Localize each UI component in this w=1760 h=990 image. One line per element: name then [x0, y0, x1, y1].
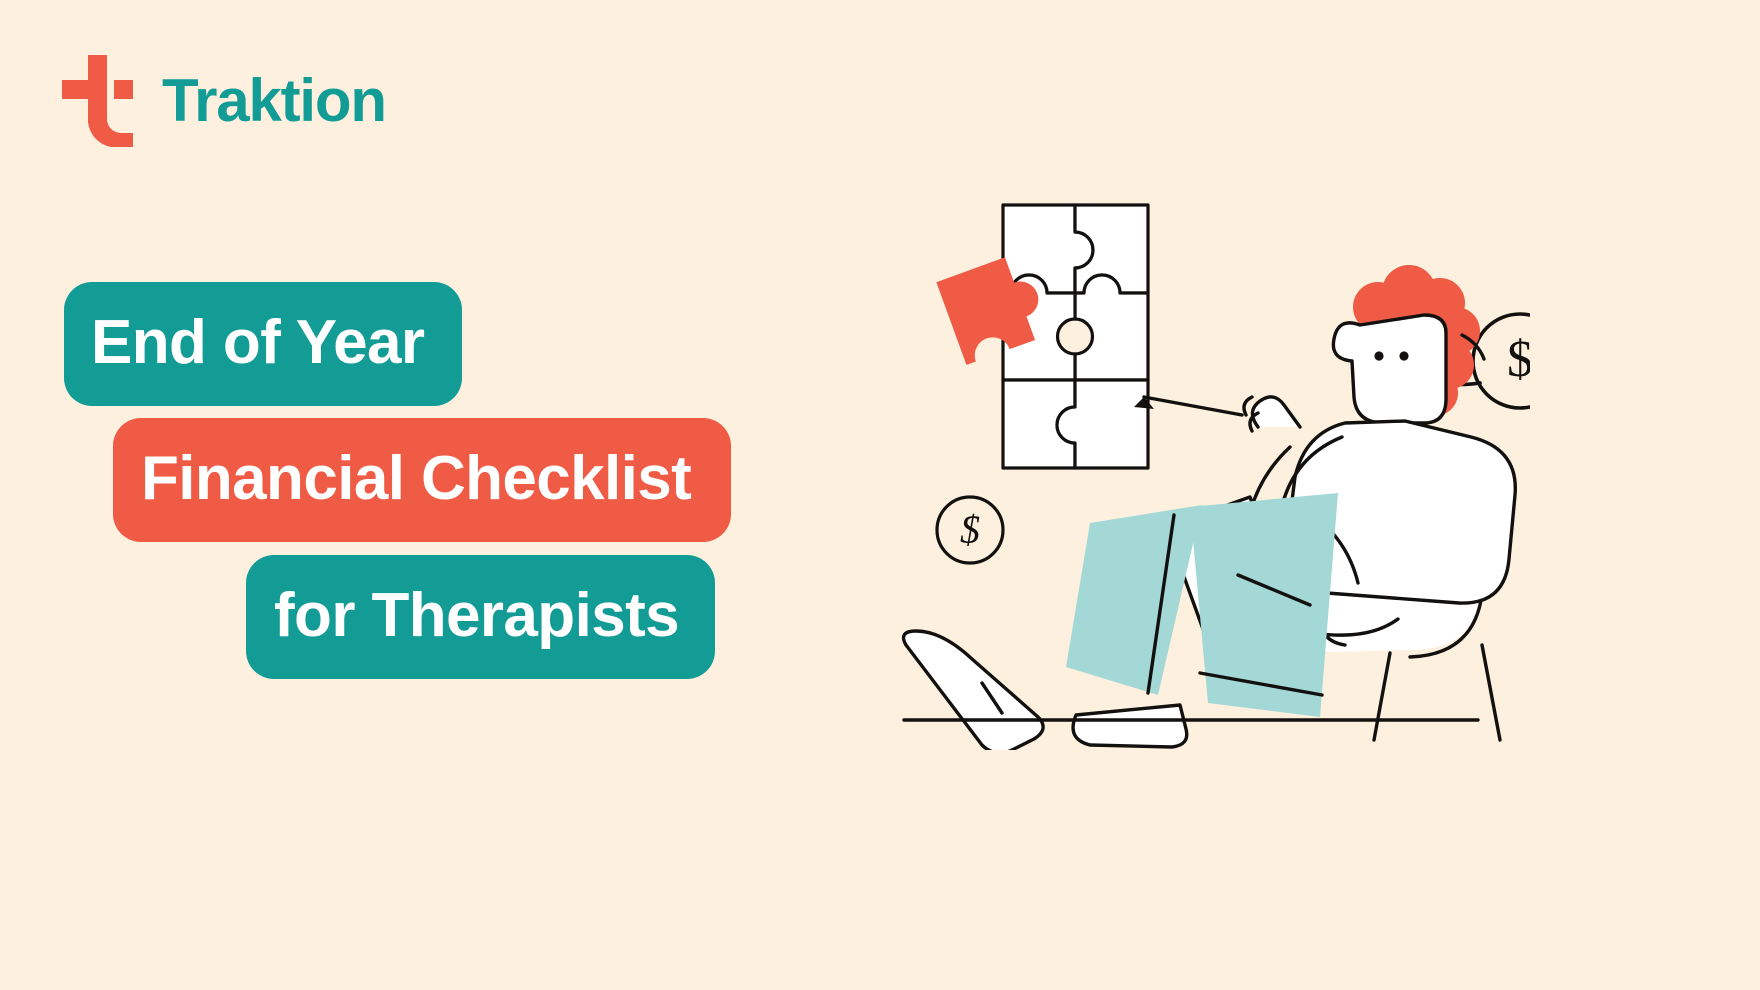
- traktion-t-logomark-icon: [62, 55, 140, 147]
- hero-illustration: $ $: [890, 175, 1530, 750]
- brand-wordmark: Traktion: [162, 71, 386, 131]
- shoe: [904, 631, 1044, 750]
- coin-icon: $: [937, 497, 1003, 563]
- poster-canvas: Traktion End of Year Financial Checklist…: [0, 0, 1760, 990]
- pen: [1134, 397, 1242, 415]
- shoe-2: [1073, 705, 1187, 747]
- trousers: [1066, 493, 1338, 717]
- headline-group: End of Year Financial Checklist for Ther…: [0, 282, 860, 679]
- hero-illustration-svg: $ $: [890, 175, 1530, 750]
- brand-logo[interactable]: Traktion: [62, 55, 386, 147]
- headline-line-3: for Therapists: [246, 555, 715, 679]
- svg-text:$: $: [960, 507, 980, 552]
- headline-line-2: Financial Checklist: [113, 418, 731, 542]
- svg-text:$: $: [1507, 331, 1530, 388]
- headline-line-1: End of Year: [64, 282, 462, 406]
